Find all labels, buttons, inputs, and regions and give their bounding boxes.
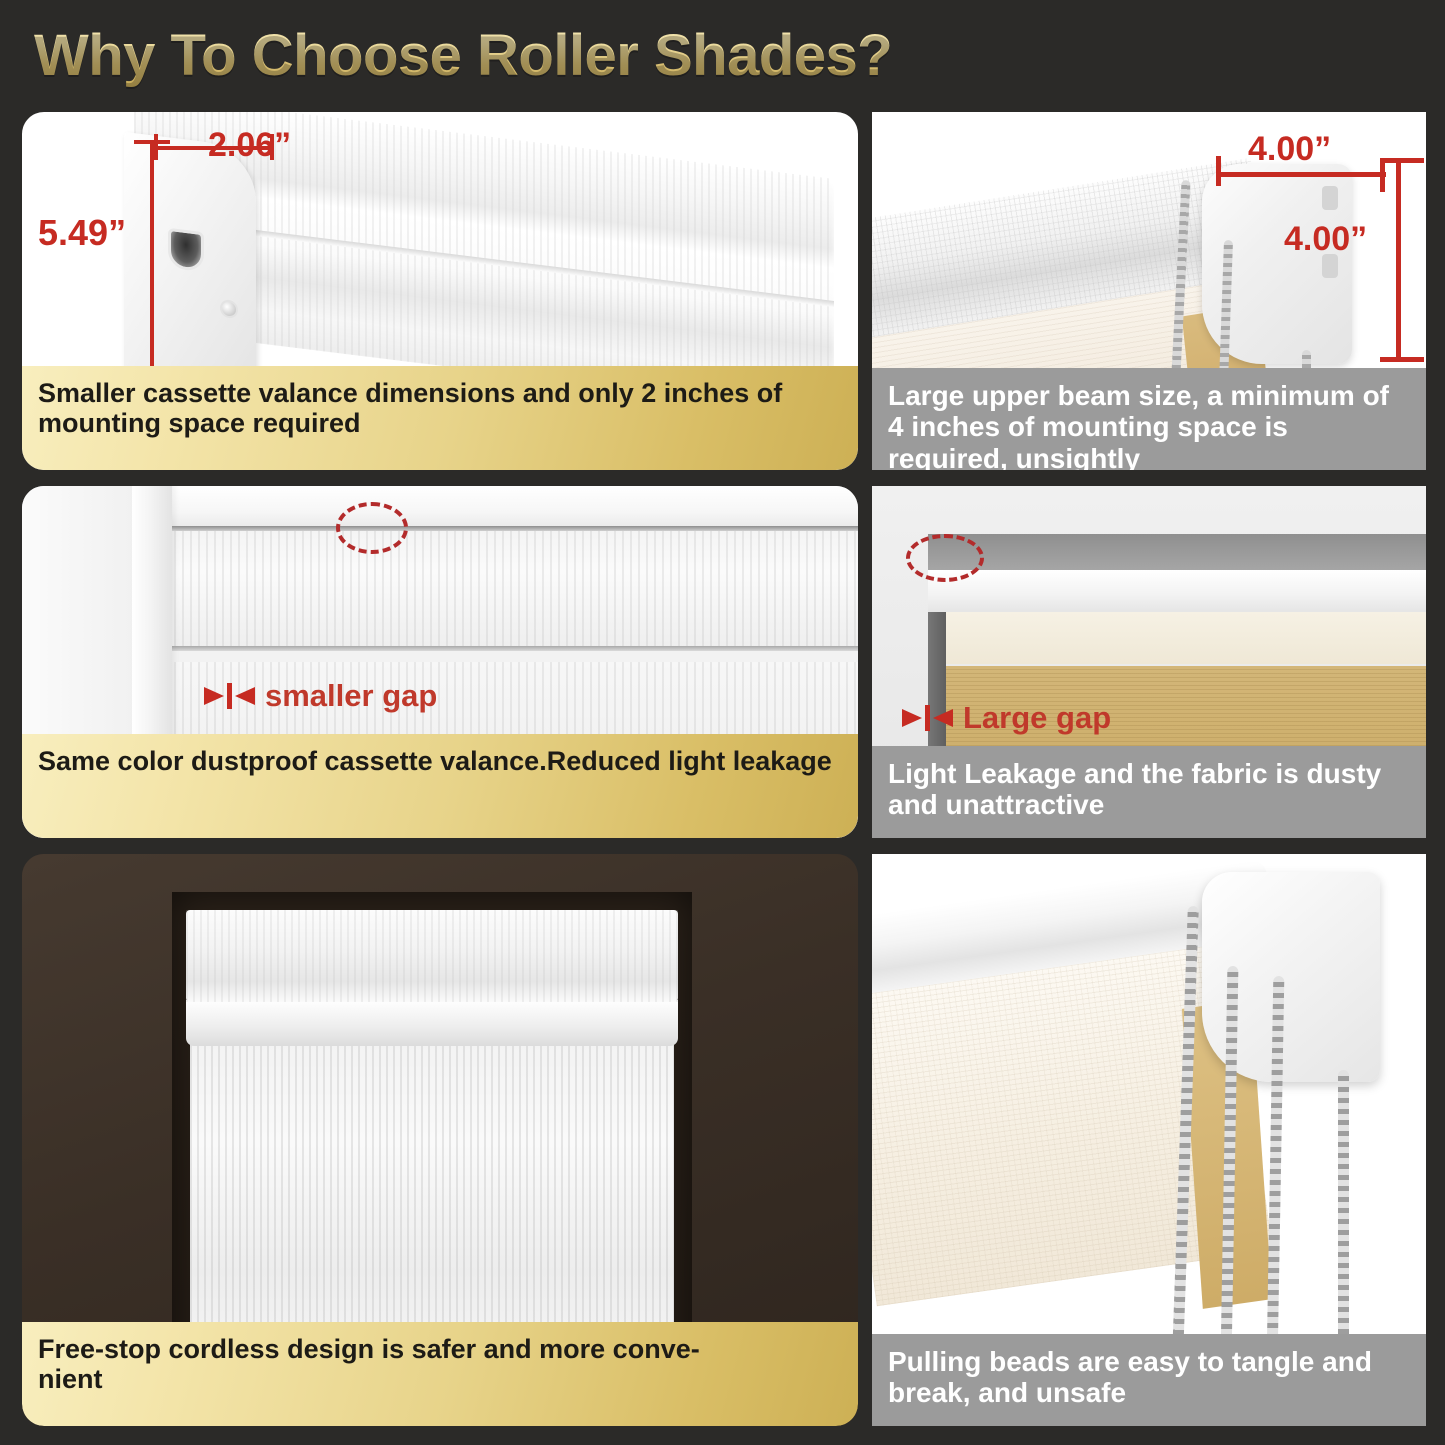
- arrow-right-icon: [204, 687, 224, 705]
- valance-top-edge: [172, 526, 858, 531]
- dim-tick-beam-left: [1216, 156, 1221, 186]
- caption-text: Light Leakage and the fabric is dusty an…: [888, 758, 1410, 821]
- dim-line-beam-height: [1396, 158, 1401, 362]
- infographic-root: Why To Choose Roller Shades? 5.49” 2.06”…: [0, 0, 1445, 1445]
- caption-text: Free-stop cordless design is safer and m…: [38, 1334, 842, 1394]
- arrow-right-icon: [902, 709, 922, 727]
- title-bar: Why To Choose Roller Shades?: [0, 0, 1445, 104]
- page-title: Why To Choose Roller Shades?: [34, 22, 892, 89]
- dim-tick-beamh-bottom: [1380, 357, 1424, 362]
- panel-pro-cassette-dimensions: 5.49” 2.06” Smaller cassette valance dim…: [22, 112, 858, 470]
- gap-label: smaller gap: [265, 678, 437, 714]
- caption-pro-cassette: Smaller cassette valance dimensions and …: [22, 366, 858, 470]
- dim-line-beam-width: [1216, 172, 1386, 177]
- caption-con-large-beam: Large upper beam size, a minimum of 4 in…: [872, 368, 1426, 470]
- caption-con-pull-beads: Pulling beads are easy to tangle and bre…: [872, 1334, 1426, 1426]
- dim-tick-height-top: [134, 140, 170, 144]
- panel-con-large-beam: 4.00” 4.00” Large upper beam size, a min…: [872, 112, 1426, 470]
- annotation-large-gap: Large gap: [902, 700, 1111, 736]
- panel-pro-smaller-gap: smaller gap Same color dustproof cassett…: [22, 486, 858, 838]
- caption-text: Pulling beads are easy to tangle and bre…: [888, 1346, 1410, 1409]
- bead-chain-right: [1338, 1070, 1349, 1358]
- dimension-label-beam-height: 4.00”: [1284, 220, 1367, 259]
- window-head-trim: [142, 486, 858, 530]
- dimension-label-height: 5.49”: [38, 212, 126, 254]
- caption-con-large-gap: Light Leakage and the fabric is dusty an…: [872, 746, 1426, 838]
- dim-tick-beam-right: [1380, 162, 1385, 192]
- arrow-left-icon: [235, 687, 255, 705]
- panel-con-pull-beads: Pulling beads are easy to tangle and bre…: [872, 854, 1426, 1426]
- valance-face: [174, 530, 858, 650]
- caption-pro-cordless: Free-stop cordless design is safer and m…: [22, 1322, 858, 1426]
- dimension-label-width: 2.06”: [208, 126, 291, 165]
- valance-lower-lip: [186, 1000, 678, 1046]
- gap-marker: [925, 705, 930, 731]
- dim-tick-width-left: [154, 134, 158, 160]
- panel-con-large-gap: Large gap Light Leakage and the fabric i…: [872, 486, 1426, 838]
- cream-fabric-band: [944, 612, 1426, 664]
- gap-label: Large gap: [963, 700, 1111, 736]
- panel-pro-cordless: Free-stop cordless design is safer and m…: [22, 854, 858, 1426]
- caption-text: Large upper beam size, a minimum of 4 in…: [888, 380, 1410, 470]
- arrow-left-icon: [933, 709, 953, 727]
- annotation-smaller-gap: smaller gap: [204, 678, 437, 714]
- gap-marker: [227, 683, 232, 709]
- caption-text: Smaller cassette valance dimensions and …: [38, 378, 842, 438]
- cassette-valance: [186, 910, 678, 1002]
- dimension-label-beam-width: 4.00”: [1248, 130, 1331, 169]
- highlight-ellipse: [336, 502, 408, 554]
- highlight-ellipse: [906, 534, 984, 582]
- valance-bottom-edge: [172, 646, 858, 651]
- caption-text: Same color dustproof cassette valance.Re…: [38, 746, 842, 776]
- dim-tick-beamh-top: [1380, 158, 1424, 163]
- caption-pro-smaller-gap: Same color dustproof cassette valance.Re…: [22, 734, 858, 838]
